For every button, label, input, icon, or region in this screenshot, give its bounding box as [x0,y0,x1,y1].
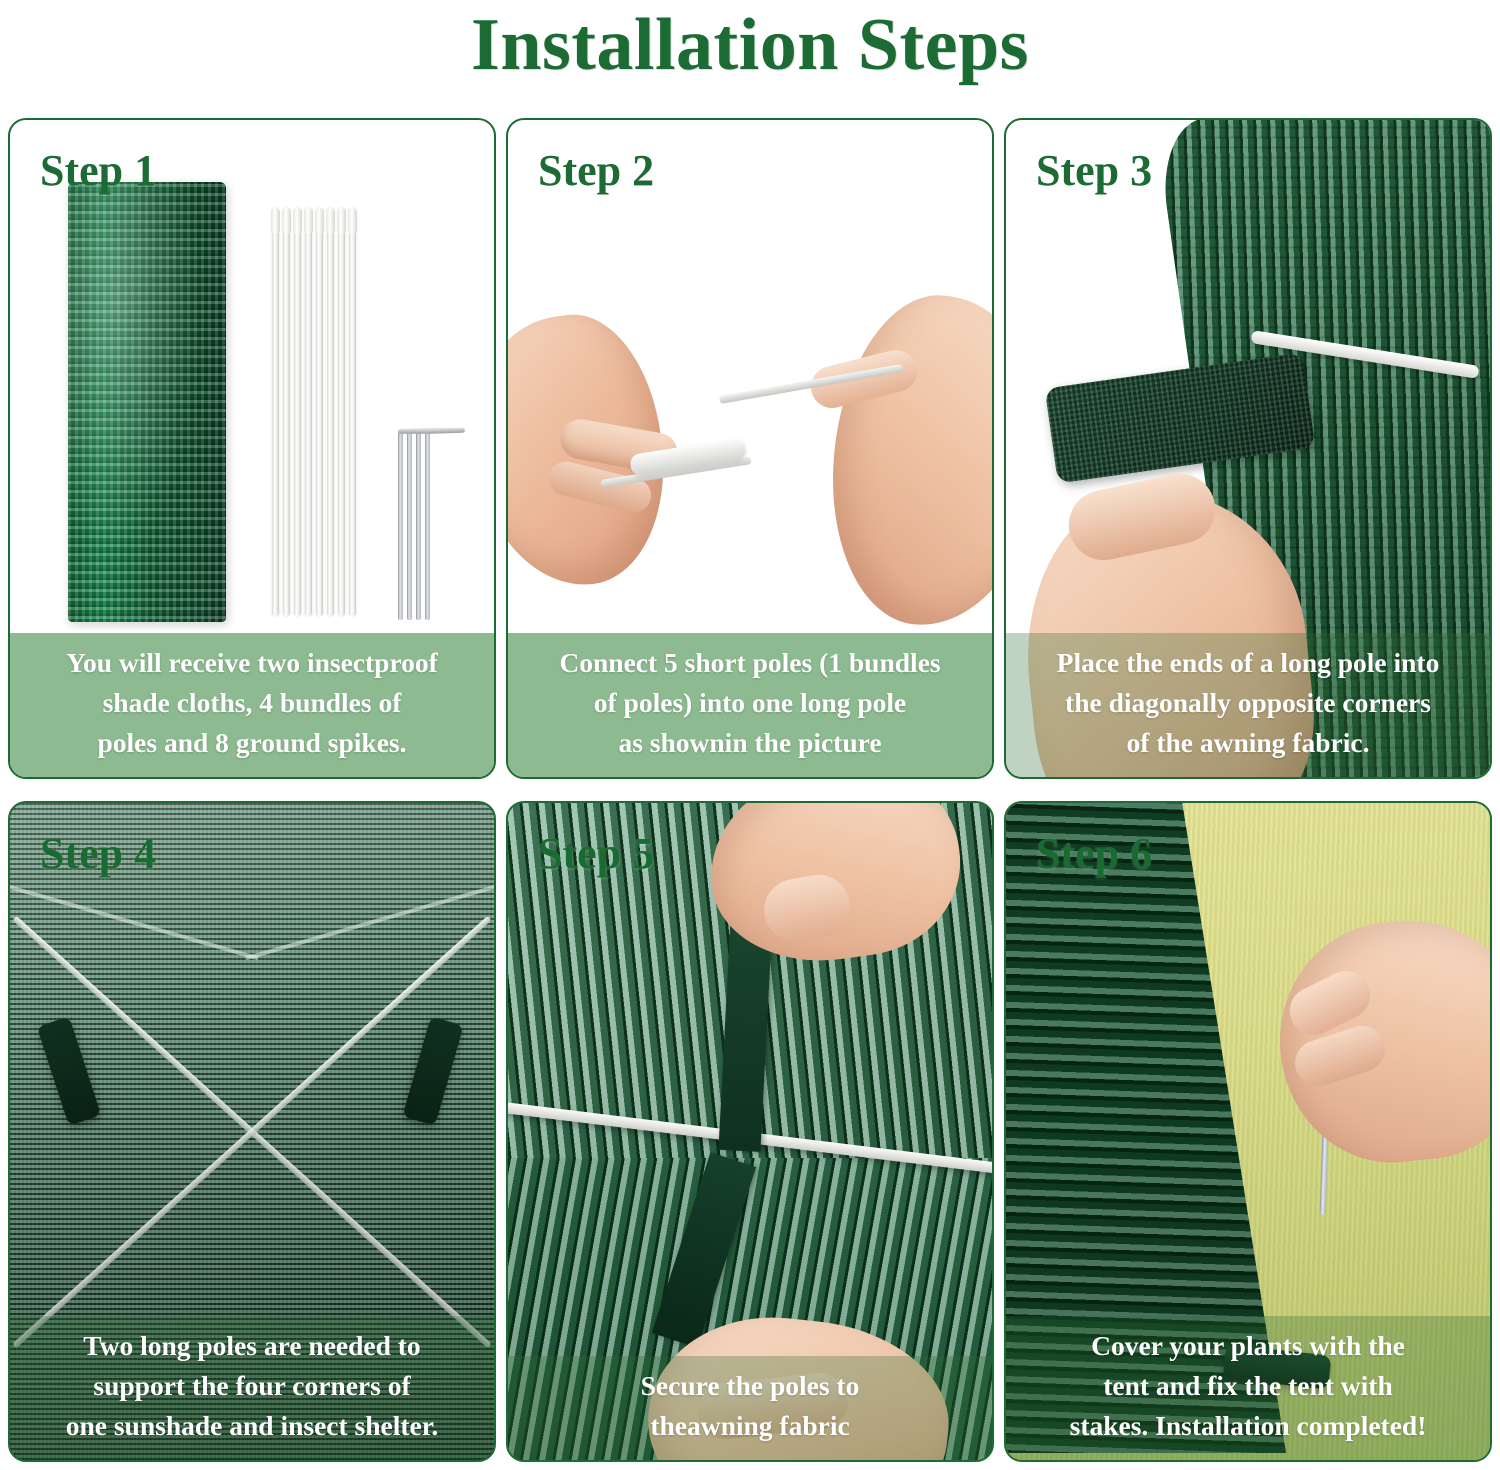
caption-line: Secure the poles to [524,1366,976,1406]
step-panel-2: Step 2 Connect 5 short poles (1 bundles … [506,118,994,779]
poles-bundle-graphic [272,208,358,616]
step-label-6: Step 6 [1036,829,1152,879]
step-caption-3: Place the ends of a long pole into the d… [1006,633,1490,777]
step-caption-5: Secure the poles to theawning fabric [508,1356,992,1460]
pole-graphic [294,208,301,616]
pole-graphic [272,208,279,616]
ground-spike-graphic [416,432,421,620]
pole-graphic [316,208,323,616]
step-panel-4: Step 4 Two long poles are needed to supp… [8,801,496,1462]
step-caption-2: Connect 5 short poles (1 bundles of pole… [508,633,992,777]
step-label-1: Step 1 [40,146,156,196]
caption-line: stakes. Installation completed! [1022,1406,1474,1446]
caption-line: one sunshade and insect shelter. [26,1406,478,1446]
pole-graphic [305,208,312,616]
pole-graphic [338,208,345,616]
step-caption-1: You will receive two insectproof shade c… [10,633,494,777]
step-label-2: Step 2 [538,146,654,196]
caption-line: shade cloths, 4 bundles of [26,683,478,723]
page-title: Installation Steps [0,0,1500,102]
step-label-4: Step 4 [40,829,156,879]
caption-line: poles and 8 ground spikes. [26,723,478,763]
step-panel-6: Step 6 Cover your plants with the tent a… [1004,801,1492,1462]
step-label-5: Step 5 [538,829,654,879]
caption-line: the diagonally opposite corners [1022,683,1474,723]
caption-line: Place the ends of a long pole into [1022,643,1474,683]
pole-graphic [283,208,290,616]
installation-steps-page: Installation Steps [0,0,1500,1470]
ground-spikes-graphic [398,400,464,620]
step-caption-6: Cover your plants with the tent and fix … [1006,1316,1490,1460]
caption-line: support the four corners of [26,1366,478,1406]
step-label-3: Step 3 [1036,146,1152,196]
step-panel-5: Step 5 Secure the poles to theawning fab… [506,801,994,1462]
shade-cloth-roll-graphic [68,182,226,622]
caption-line: as shownin the picture [524,723,976,763]
caption-line: of the awning fabric. [1022,723,1474,763]
caption-line: Cover your plants with the [1022,1326,1474,1366]
step-panel-3: Step 3 Place the ends of a long pole int… [1004,118,1492,779]
ground-spike-graphic [398,432,403,620]
caption-line: theawning fabric [524,1406,976,1446]
pole-graphic [349,208,356,616]
ground-spike-graphic [407,432,412,620]
caption-line: Connect 5 short poles (1 bundles [524,643,976,683]
right-hand-graphic [817,286,992,636]
ground-spike-graphic [425,432,430,620]
step-panel-1: Step 1 You will receive two insectproof … [8,118,496,779]
caption-line: tent and fix the tent with [1022,1366,1474,1406]
caption-line: Two long poles are needed to [26,1326,478,1366]
caption-line: You will receive two insectproof [26,643,478,683]
pole-graphic [327,208,334,616]
caption-line: of poles) into one long pole [524,683,976,723]
steps-grid: Step 1 You will receive two insectproof … [8,118,1492,1462]
step-caption-4: Two long poles are needed to support the… [10,1316,494,1460]
